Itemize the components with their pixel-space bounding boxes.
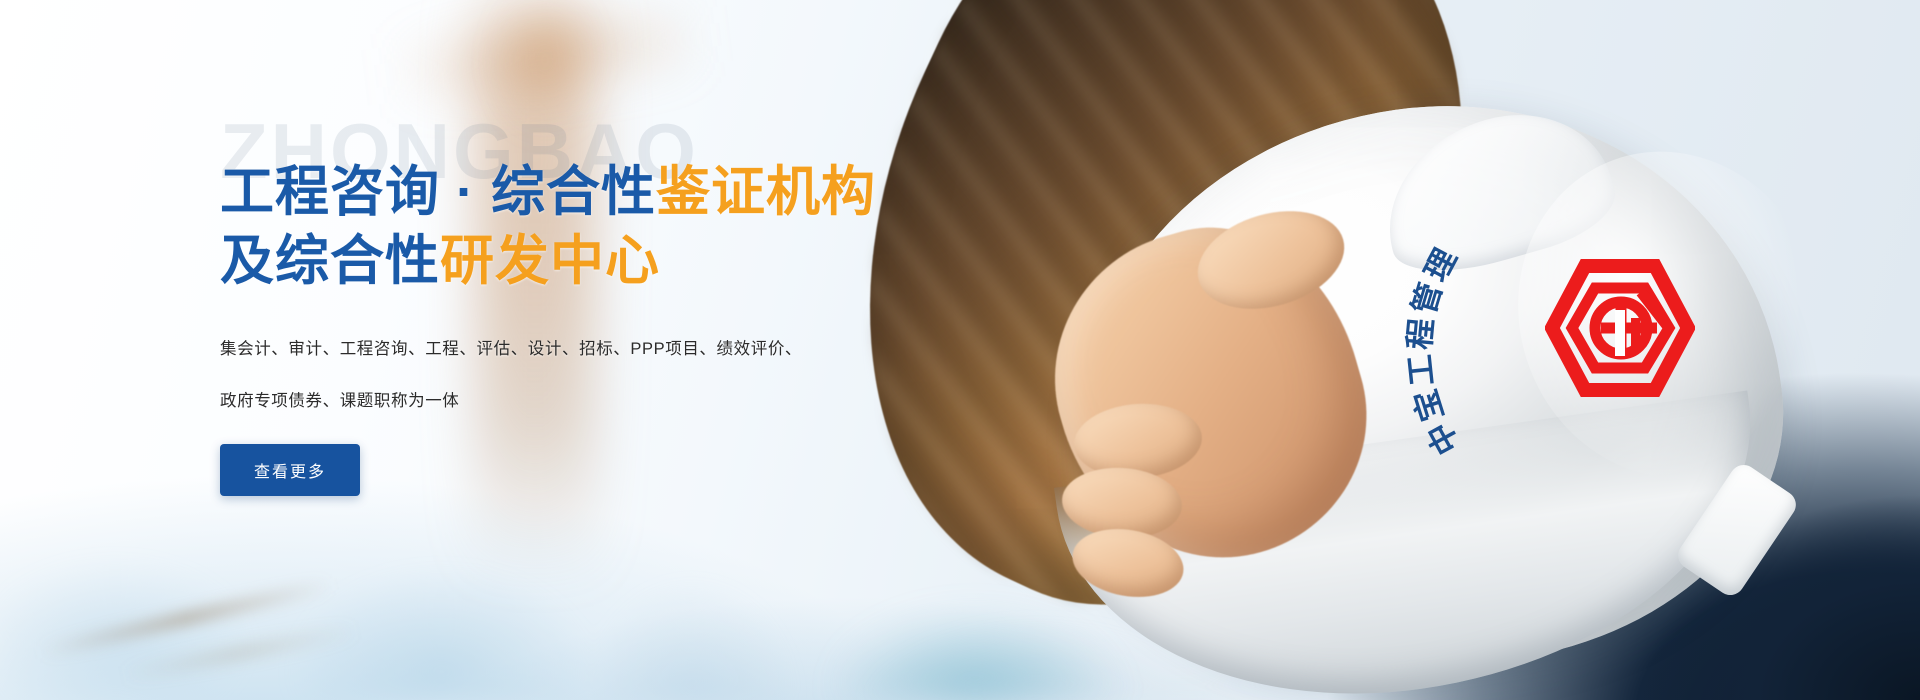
headline-line-1-orange: 鉴证机构 (656, 162, 876, 222)
description: 集会计、审计、工程咨询、工程、评估、设计、招标、PPP项目、绩效评价、 政府专项… (220, 337, 940, 414)
description-line-2: 政府专项债券、课题职称为一体 (220, 389, 940, 415)
hero-banner: 中宝工程管理 ZHONGBAO 工程咨询 · 综合性鉴证机构 (0, 0, 1920, 700)
headline-line-1-blue: 工程咨询 · 综合性 (220, 162, 656, 222)
headline-line-1: 工程咨询 · 综合性鉴证机构 (220, 158, 940, 227)
headline-line-2-blue: 及综合性 (220, 231, 440, 291)
headline-line-2-orange: 研发中心 (440, 231, 660, 291)
view-more-button[interactable]: 查看更多 (220, 444, 360, 496)
company-logo-icon (1545, 258, 1695, 398)
hero-content: ZHONGBAO 工程咨询 · 综合性鉴证机构 及综合性研发中心 集会计、审计、… (220, 112, 940, 496)
headline: 工程咨询 · 综合性鉴证机构 及综合性研发中心 (220, 158, 940, 295)
description-line-1: 集会计、审计、工程咨询、工程、评估、设计、招标、PPP项目、绩效评价、 (220, 337, 940, 363)
headline-line-2: 及综合性研发中心 (220, 227, 940, 296)
